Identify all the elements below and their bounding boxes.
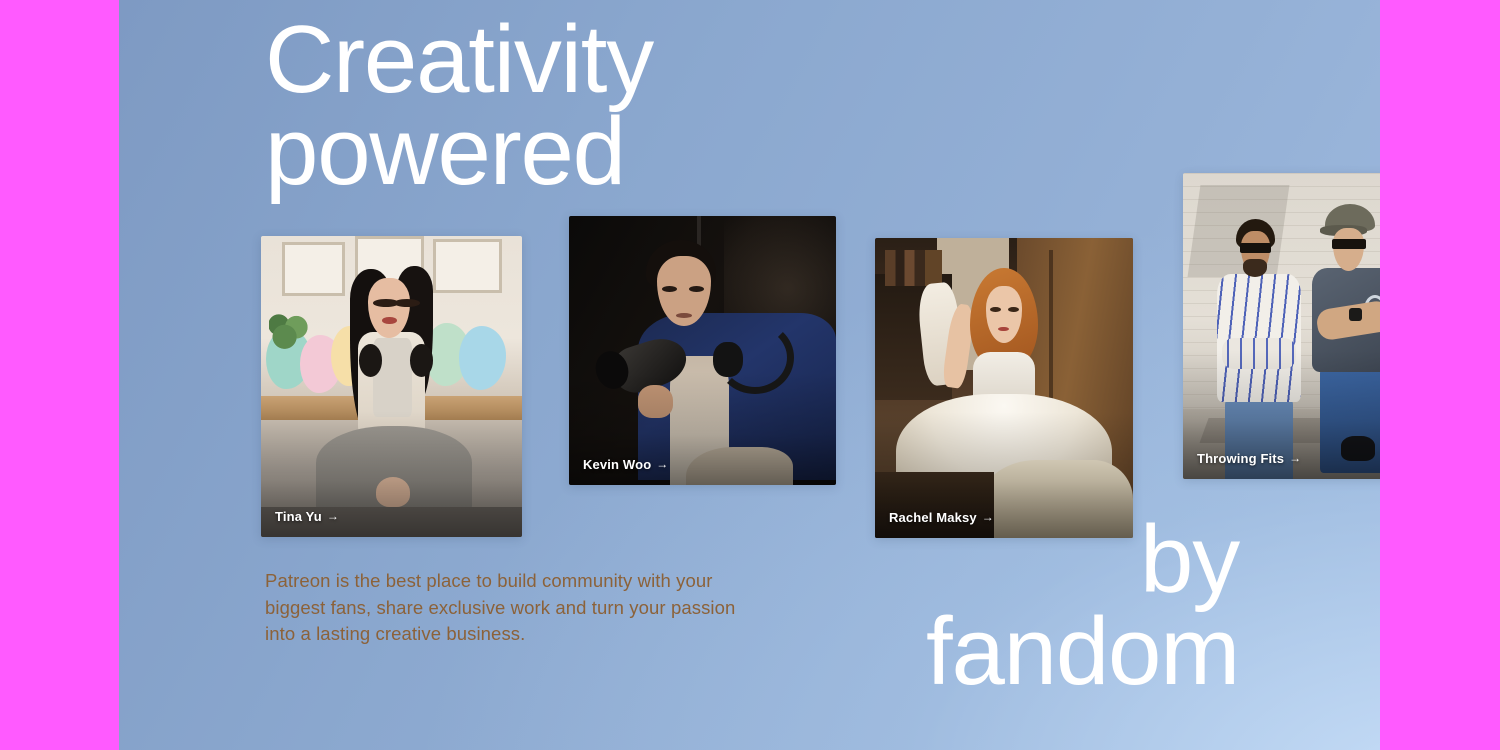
creator-name: Rachel Maksy: [889, 510, 977, 525]
arrow-right-icon: →: [1289, 451, 1301, 465]
hero-description: Patreon is the best place to build commu…: [265, 568, 765, 648]
arrow-right-icon: →: [656, 457, 668, 471]
creator-photo-throwing-fits: [1183, 173, 1380, 479]
creator-name: Tina Yu: [275, 509, 322, 524]
creator-photo-tina-yu: [261, 236, 522, 537]
arrow-right-icon: →: [982, 510, 994, 524]
creator-card-label-kevin-woo: Kevin Woo→: [583, 457, 668, 472]
creator-card-kevin-woo[interactable]: Kevin Woo→: [569, 216, 836, 485]
creator-card-label-throwing-fits: Throwing Fits→: [1197, 451, 1301, 466]
creator-name: Kevin Woo: [583, 457, 651, 472]
creator-card-label-rachel-maksy: Rachel Maksy→: [889, 510, 994, 525]
creator-card-rachel-maksy[interactable]: Rachel Maksy→: [875, 238, 1133, 538]
creator-photo-rachel-maksy: [875, 238, 1133, 538]
hero-panel: Tina Yu→: [119, 0, 1380, 750]
hero-headline-top: Creativity powered: [265, 14, 653, 198]
arrow-right-icon: →: [327, 509, 339, 523]
creator-name: Throwing Fits: [1197, 451, 1284, 466]
creator-card-throwing-fits[interactable]: Throwing Fits→: [1183, 173, 1380, 479]
creator-card-tina-yu[interactable]: Tina Yu→: [261, 236, 522, 537]
hero-headline-bottom: by fandom: [926, 514, 1239, 698]
screenshot-frame: Tina Yu→: [0, 0, 1500, 750]
creator-photo-kevin-woo: [569, 216, 836, 485]
creator-card-label-tina-yu: Tina Yu→: [275, 509, 339, 524]
